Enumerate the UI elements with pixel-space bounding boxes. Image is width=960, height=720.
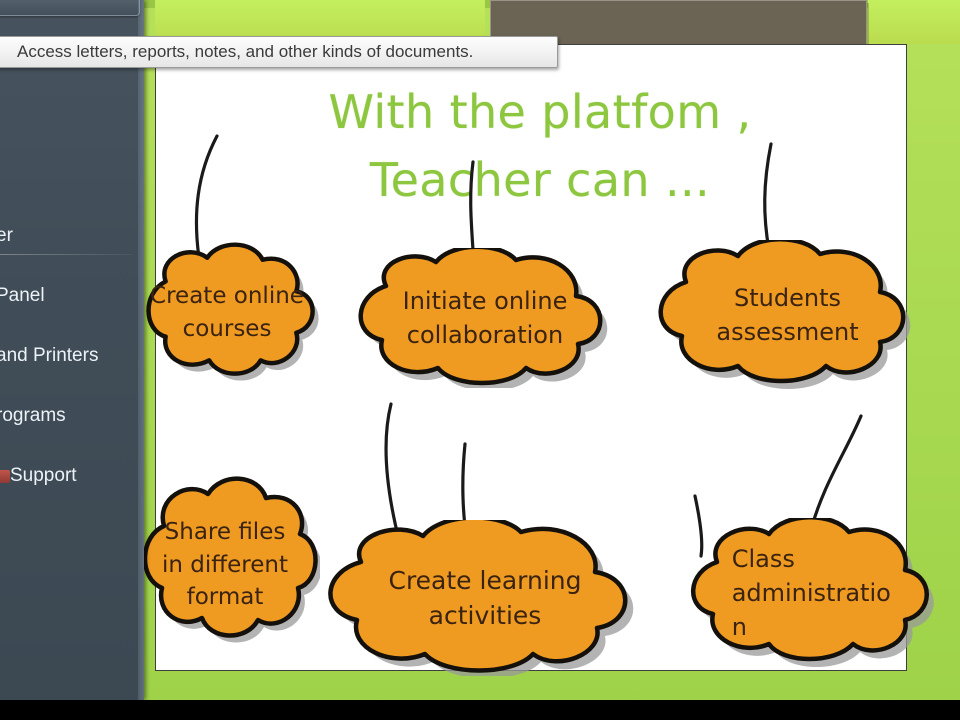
cloud-label: Share files in different format	[143, 516, 307, 614]
help-icon	[0, 470, 10, 483]
tooltip-text: Access letters, reports, notes, and othe…	[17, 42, 473, 62]
sidebar-item-label: Panel	[0, 285, 45, 307]
slide-header-strip-right	[868, 0, 960, 44]
sidebar-item-default-programs[interactable]: rograms	[0, 402, 144, 430]
start-menu-search-box[interactable]	[0, 0, 140, 16]
cloud-create-learning-activities[interactable]: Create learning activities	[305, 520, 665, 676]
screen: With the platfom , Teacher can ...	[0, 0, 960, 720]
cloud-label: Create learning activities	[352, 563, 617, 634]
cloud-class-administration[interactable]: Class administratio n	[675, 518, 940, 668]
sidebar-item-computer[interactable]: er	[0, 222, 144, 250]
cloud-initiate-online-collaboration[interactable]: Initiate online collaboration	[340, 248, 630, 388]
cloud-label: Create online courses	[130, 280, 324, 345]
letterbox-bottom-left	[0, 700, 144, 720]
presentation-slide: With the platfom , Teacher can ...	[0, 0, 960, 720]
sidebar-item-devices-and-printers[interactable]: and Printers	[0, 342, 144, 370]
cloud-label: Class administratio n	[698, 542, 918, 644]
cloud-students-assessment[interactable]: Students assessment	[640, 240, 935, 390]
windows-start-menu-panel[interactable]: er Panel and Printers rograms Support	[0, 0, 144, 700]
start-menu-divider	[0, 254, 132, 255]
tooltip: Access letters, reports, notes, and othe…	[0, 36, 558, 68]
sidebar-item-label: er	[0, 225, 13, 247]
letterbox-bottom	[0, 700, 960, 720]
sidebar-item-label: rograms	[0, 405, 66, 427]
sidebar-item-help-and-support[interactable]: Support	[0, 462, 144, 490]
cloud-share-files-different-format[interactable]: Share files in different format	[130, 470, 320, 660]
cloud-create-online-courses[interactable]: Create online courses	[128, 242, 326, 384]
slide-title-text: With the platfom , Teacher can ...	[190, 78, 890, 214]
cloud-label: Students assessment	[687, 281, 888, 349]
cloud-label: Initiate online collaboration	[374, 284, 597, 352]
sidebar-item-label: Support	[10, 465, 77, 487]
sidebar-item-control-panel[interactable]: Panel	[0, 282, 144, 310]
sidebar-item-label: and Printers	[0, 345, 98, 367]
